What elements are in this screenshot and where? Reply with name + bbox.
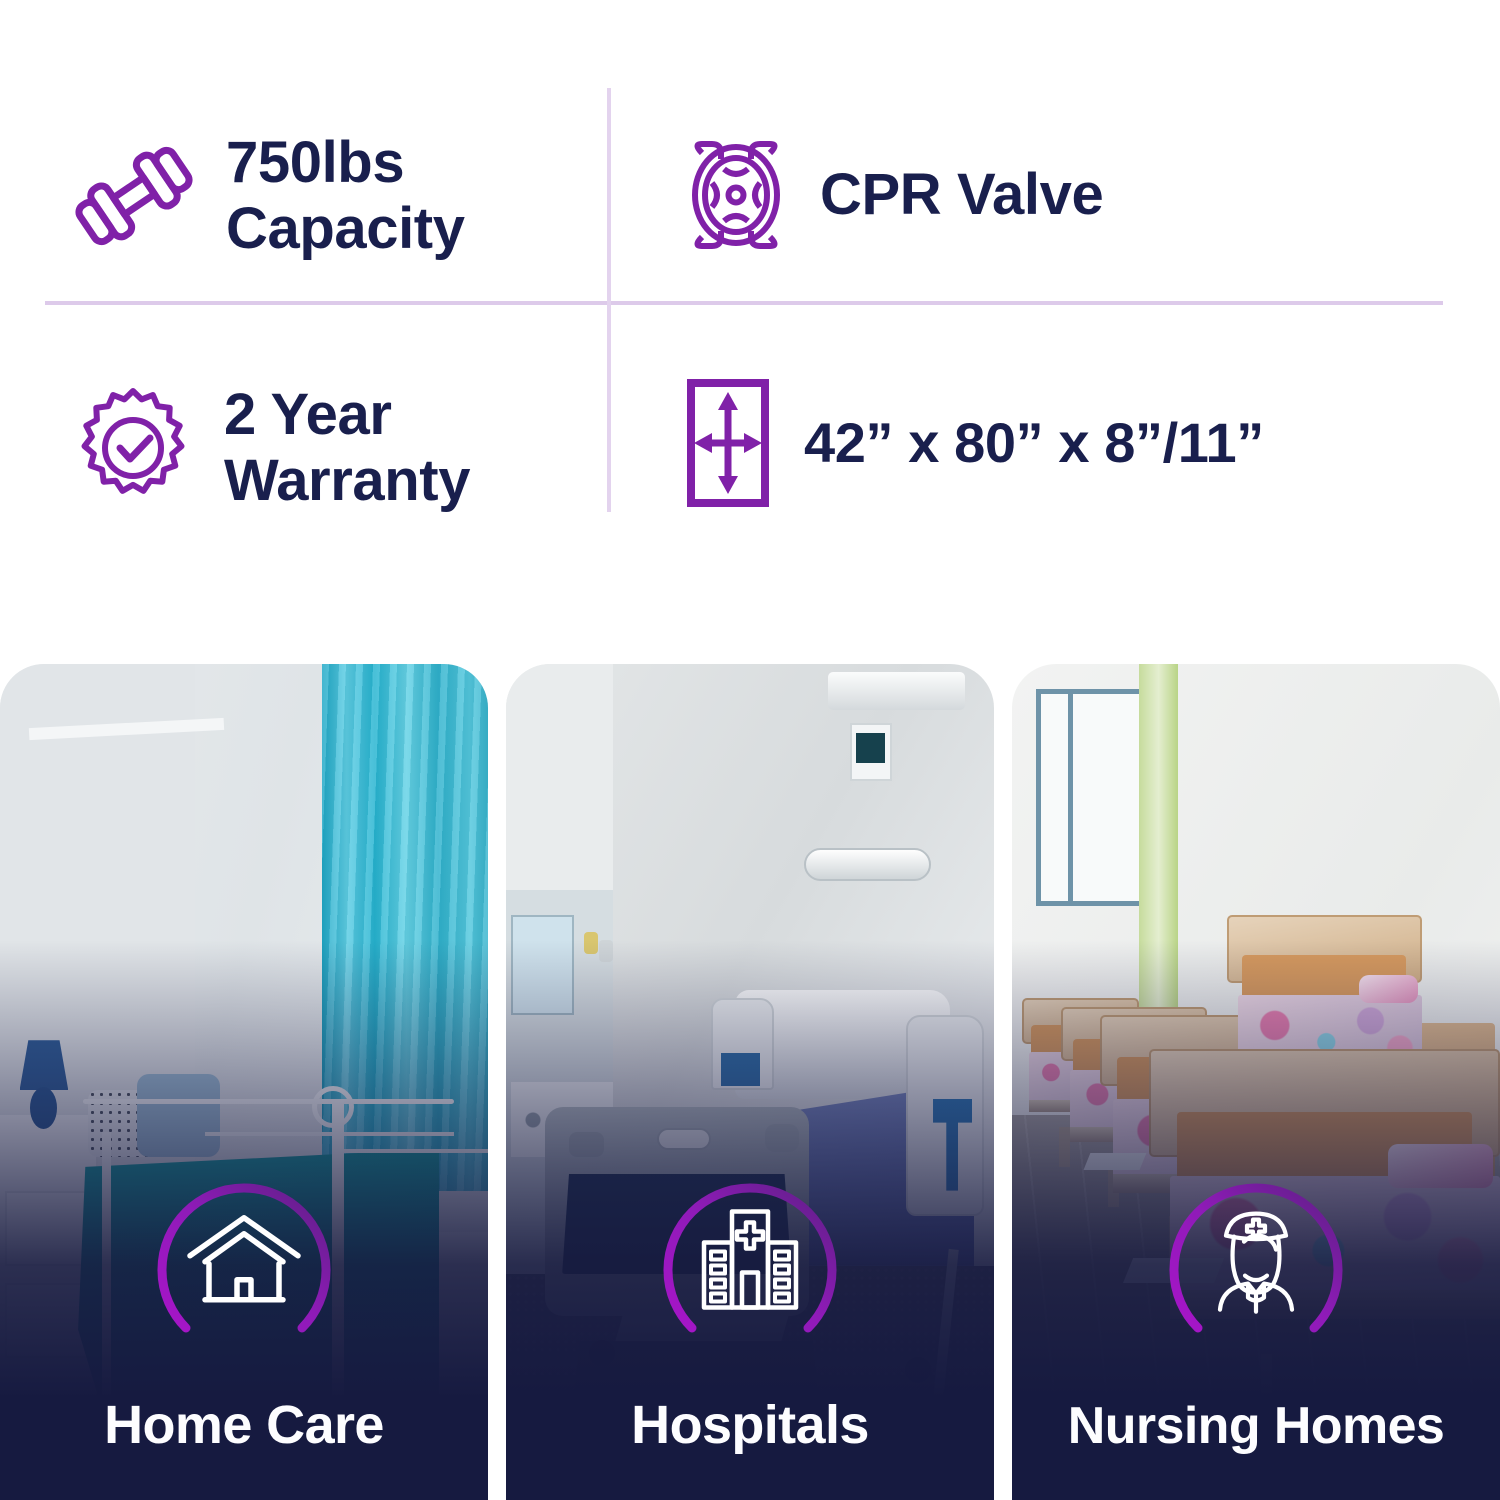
dimensions-arrows-icon [680, 376, 776, 510]
hospitals-badge [506, 1192, 994, 1352]
use-case-panel-home-care[interactable]: Home Care [0, 664, 488, 1500]
use-case-label-hospitals: Hospitals [506, 1398, 994, 1452]
hospital-building-icon [696, 1206, 804, 1314]
feature-cell-capacity: 750lbs Capacity [70, 96, 590, 296]
feature-label-warranty: 2 Year Warranty [224, 382, 470, 513]
use-case-label-home-care: Home Care [0, 1398, 488, 1452]
nursing-homes-badge [1012, 1192, 1500, 1352]
use-case-panel-hospitals[interactable]: Hospitals [506, 664, 994, 1500]
grid-divider-horizontal [45, 301, 1443, 305]
feature-cell-warranty: 2 Year Warranty [70, 348, 590, 548]
use-case-panel-nursing-homes[interactable]: Nursing Homes [1012, 664, 1500, 1500]
dumbbell-icon [70, 137, 198, 255]
grid-divider-vertical [607, 88, 611, 512]
feature-label-dimensions: 42” x 80” x 8”/11” [804, 411, 1264, 474]
feature-label-cpr-valve: CPR Valve [820, 162, 1103, 228]
feature-cell-dimensions: 42” x 80” x 8”/11” [680, 368, 1440, 518]
use-case-label-nursing-homes: Nursing Homes [1012, 1400, 1500, 1452]
product-feature-infographic: 750lbs Capacity CPR Valve [0, 0, 1500, 1500]
feature-label-capacity: 750lbs Capacity [226, 130, 465, 261]
home-care-badge [0, 1192, 488, 1352]
house-icon [185, 1212, 303, 1308]
nurse-icon [1200, 1206, 1312, 1316]
cpr-valve-icon [680, 137, 792, 253]
feature-grid: 750lbs Capacity CPR Valve [0, 0, 1500, 610]
use-case-panels: Home Care [0, 664, 1500, 1500]
feature-cell-cpr-valve: CPR Valve [680, 110, 1380, 280]
warranty-badge-icon [70, 385, 196, 511]
